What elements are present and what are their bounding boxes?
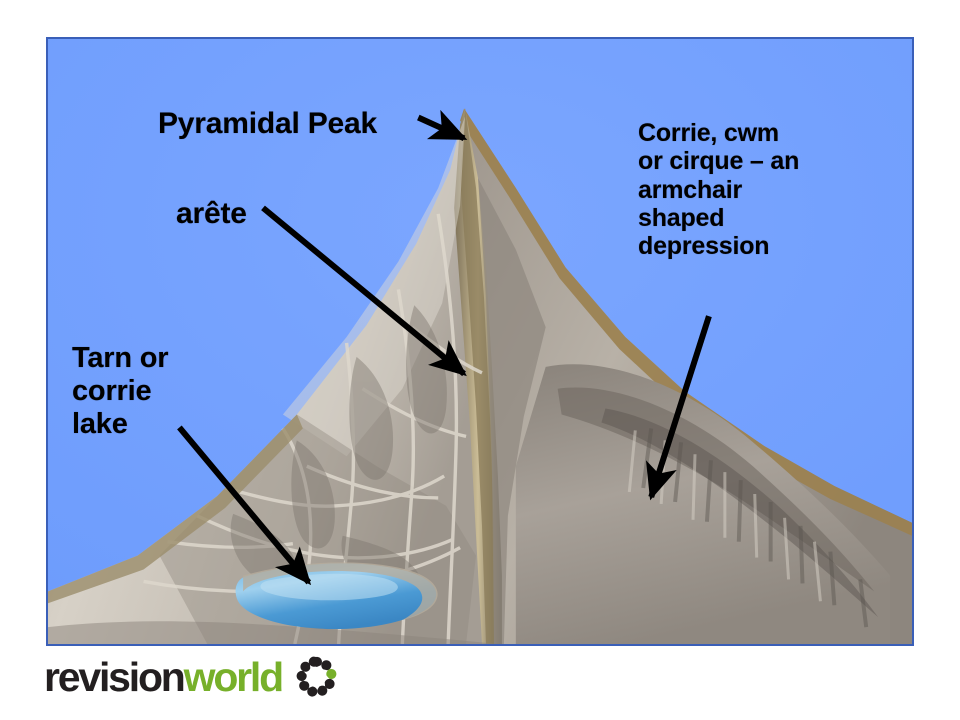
logo-word-revision: revision [44, 654, 184, 700]
label-arete: arête [176, 197, 247, 231]
circular-dots-mark-icon [296, 656, 338, 698]
revisionworld-logo[interactable]: revisionworld [44, 654, 338, 700]
diagram-figure: Pyramidal Peak arête Tarn or corrie lake… [46, 37, 914, 646]
label-tarn-or-corrie-lake: Tarn or corrie lake [72, 342, 168, 440]
logo-word-world: world [184, 654, 282, 700]
label-pyramidal-peak: Pyramidal Peak [158, 107, 377, 141]
label-corrie-cwm-or-cirque: Corrie, cwm or cirque – an armchair shap… [638, 119, 799, 260]
logo-wordmark: revisionworld [44, 657, 282, 698]
mark-dots [296, 656, 338, 698]
